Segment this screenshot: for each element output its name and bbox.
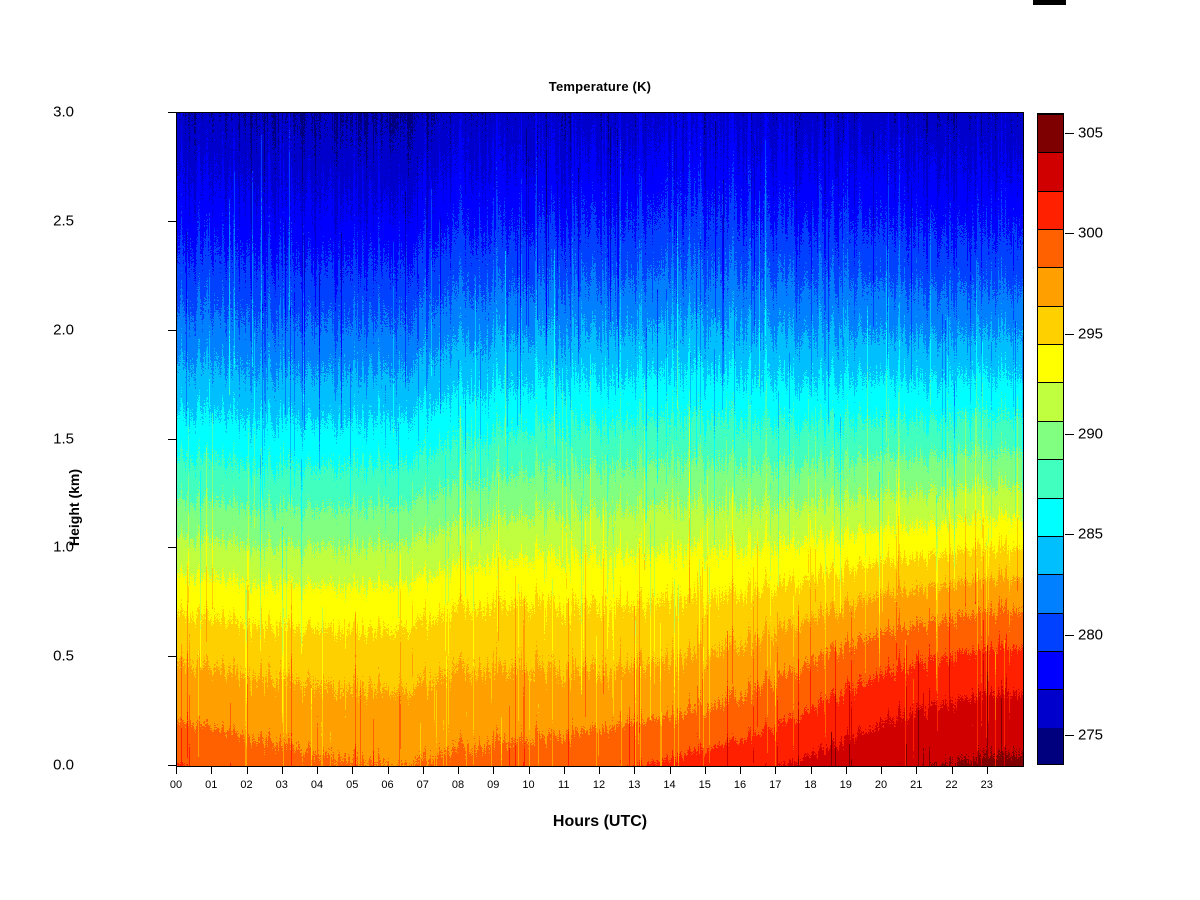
- x-axis-tick: [247, 766, 248, 774]
- colorbar-band: [1038, 536, 1063, 574]
- x-axis-tick-label: 02: [227, 779, 267, 791]
- x-axis-tick-label: 10: [509, 779, 549, 791]
- colorbar-band: [1038, 459, 1063, 497]
- colorbar-band: [1038, 344, 1063, 382]
- colorbar-tick: [1065, 635, 1074, 636]
- y-axis-tick: [168, 221, 176, 222]
- colorbar-tick-label: 280: [1078, 626, 1103, 643]
- colorbar-tick: [1065, 334, 1074, 335]
- temperature-time-height-figure: Temperature (K) 0.00.51.01.52.02.53.0 00…: [0, 0, 1200, 900]
- x-axis-tick-label: 00: [156, 779, 196, 791]
- y-axis-tick: [168, 547, 176, 548]
- colorbar-band: [1038, 382, 1063, 420]
- colorbar-tick-label: 300: [1078, 225, 1103, 242]
- x-axis-tick: [176, 766, 177, 774]
- temperature-heatmap: [177, 113, 1023, 766]
- x-axis-tick-label: 15: [685, 779, 725, 791]
- y-axis-tick: [168, 439, 176, 440]
- colorbar-band: [1038, 421, 1063, 459]
- x-axis-tick-label: 19: [826, 779, 866, 791]
- y-axis-tick: [168, 765, 176, 766]
- colorbar-tick-label: 290: [1078, 425, 1103, 442]
- colorbar-band: [1038, 728, 1063, 765]
- x-axis-tick-label: 20: [861, 779, 901, 791]
- x-axis-tick: [493, 766, 494, 774]
- colorbar-tick: [1065, 735, 1074, 736]
- colorbar-band: [1038, 152, 1063, 190]
- y-axis-tick-label: 2.5: [14, 212, 74, 229]
- x-axis-label: Hours (UTC): [0, 813, 1200, 831]
- x-axis-tick: [352, 766, 353, 774]
- x-axis-tick-label: 17: [755, 779, 795, 791]
- x-axis-tick-label: 04: [297, 779, 337, 791]
- x-axis-tick-label: 13: [614, 779, 654, 791]
- x-axis-tick: [423, 766, 424, 774]
- x-axis-tick-label: 03: [262, 779, 302, 791]
- x-axis-tick-label: 21: [896, 779, 936, 791]
- x-axis-tick: [529, 766, 530, 774]
- colorbar-tick-label: 275: [1078, 726, 1103, 743]
- y-axis-tick-label: 3.0: [14, 104, 74, 121]
- x-axis-tick-label: 14: [650, 779, 690, 791]
- y-axis-tick-label: 0.0: [14, 757, 74, 774]
- x-axis-tick: [388, 766, 389, 774]
- colorbar-band: [1038, 651, 1063, 689]
- x-axis-tick: [811, 766, 812, 774]
- colorbar-tick: [1065, 534, 1074, 535]
- x-axis-tick: [282, 766, 283, 774]
- y-axis-label: Height (km): [66, 469, 82, 546]
- x-axis-tick-label: 01: [191, 779, 231, 791]
- x-axis-tick: [599, 766, 600, 774]
- colorbar-tick: [1065, 233, 1074, 234]
- x-axis-tick: [670, 766, 671, 774]
- x-axis-tick-label: 06: [368, 779, 408, 791]
- colorbar-tick: [1065, 434, 1074, 435]
- colorbar-band: [1038, 613, 1063, 651]
- colorbar-tick-label: 295: [1078, 325, 1103, 342]
- y-axis-tick: [168, 330, 176, 331]
- colorbar-band: [1038, 114, 1063, 152]
- plot-panel: [176, 112, 1024, 767]
- x-axis-tick: [987, 766, 988, 774]
- x-axis-tick-label: 22: [932, 779, 972, 791]
- page-title: Temperature (K): [0, 79, 1200, 94]
- x-axis-tick: [846, 766, 847, 774]
- x-axis-tick: [634, 766, 635, 774]
- x-axis-tick: [952, 766, 953, 774]
- x-axis-tick: [740, 766, 741, 774]
- x-axis-tick-label: 07: [403, 779, 443, 791]
- x-axis-tick: [317, 766, 318, 774]
- x-axis-tick-label: 11: [544, 779, 584, 791]
- x-axis-tick: [211, 766, 212, 774]
- y-axis-tick-label: 0.5: [14, 648, 74, 665]
- colorbar-band: [1038, 689, 1063, 727]
- colorbar-tick-label: 285: [1078, 526, 1103, 543]
- top-corner-artifact: [1033, 0, 1066, 5]
- x-axis-tick: [916, 766, 917, 774]
- x-axis-tick-label: 08: [438, 779, 478, 791]
- x-axis-tick-label: 09: [473, 779, 513, 791]
- x-axis-tick-label: 05: [332, 779, 372, 791]
- y-axis-tick: [168, 656, 176, 657]
- colorbar-band: [1038, 229, 1063, 267]
- colorbar-tick-label: 305: [1078, 125, 1103, 142]
- x-axis-tick: [881, 766, 882, 774]
- colorbar-band: [1038, 498, 1063, 536]
- colorbar-band: [1038, 191, 1063, 229]
- colorbar-tick: [1065, 133, 1074, 134]
- y-axis-tick: [168, 112, 176, 113]
- colorbar-band: [1038, 574, 1063, 612]
- x-axis-tick: [705, 766, 706, 774]
- x-axis-tick: [458, 766, 459, 774]
- x-axis-tick-label: 23: [967, 779, 1007, 791]
- y-axis-tick-label: 2.0: [14, 321, 74, 338]
- x-axis-tick: [564, 766, 565, 774]
- x-axis-tick-label: 16: [720, 779, 760, 791]
- colorbar: [1037, 113, 1064, 765]
- heatmap-canvas-container: [177, 113, 1023, 766]
- colorbar-band: [1038, 267, 1063, 305]
- y-axis-tick-label: 1.0: [14, 539, 74, 556]
- colorbar-band: [1038, 306, 1063, 344]
- x-axis-tick-label: 18: [791, 779, 831, 791]
- y-axis-tick-label: 1.5: [14, 430, 74, 447]
- x-axis-tick: [775, 766, 776, 774]
- x-axis-tick-label: 12: [579, 779, 619, 791]
